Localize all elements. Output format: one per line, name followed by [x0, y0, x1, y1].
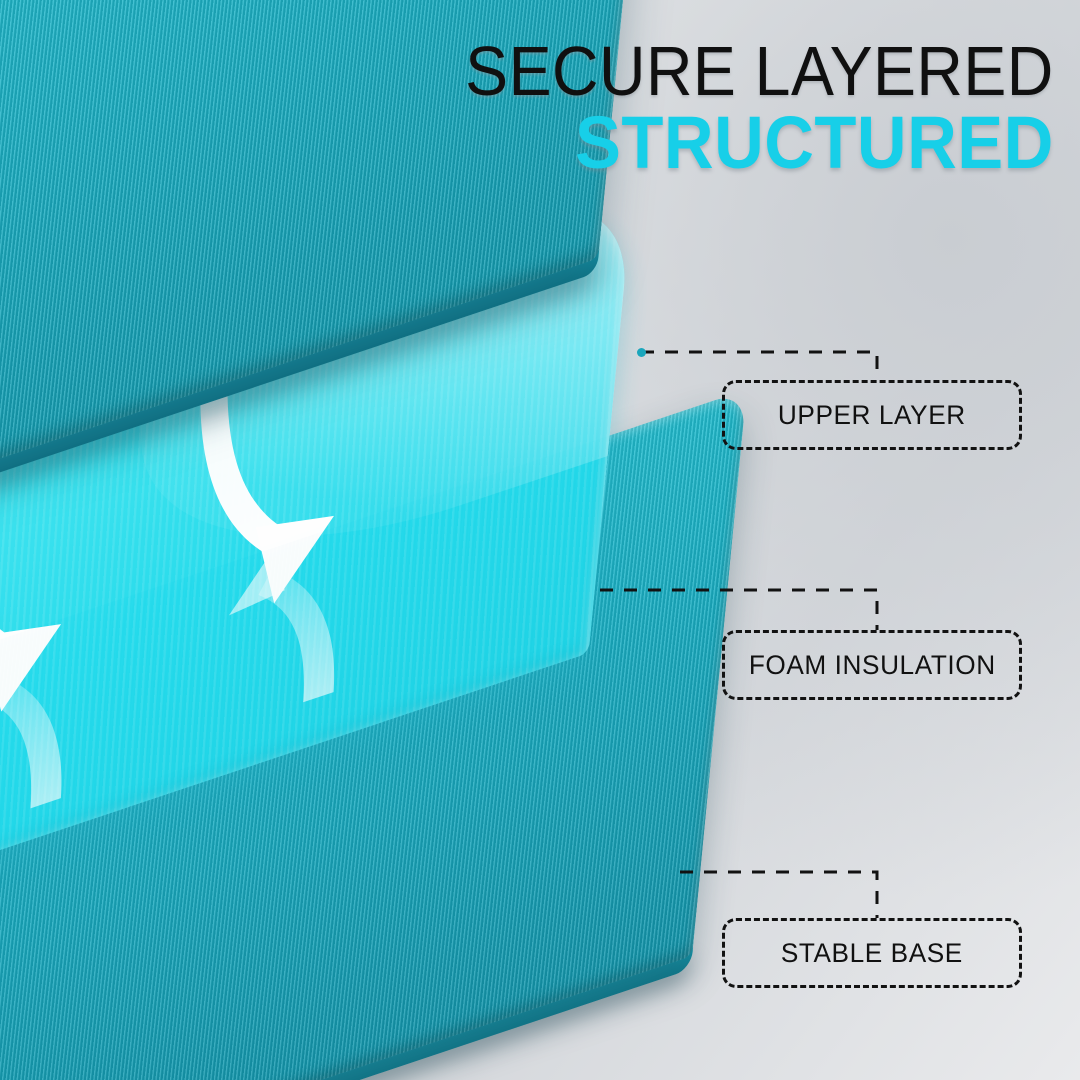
callout-upper-layer-label: UPPER LAYER	[778, 400, 966, 431]
leader-anchor-upper-layer	[637, 348, 646, 357]
callout-foam-insulation-label: FOAM INSULATION	[749, 650, 996, 681]
callout-foam-insulation[interactable]: FOAM INSULATION	[722, 630, 1022, 700]
leader-line-foam-insulation	[600, 590, 877, 630]
callout-stable-base-label: STABLE BASE	[781, 938, 963, 969]
callout-upper-layer[interactable]: UPPER LAYER	[722, 380, 1022, 450]
infographic-canvas: SECURE LAYERED STRUCTURED UPPER LAYER FO…	[0, 0, 1080, 1080]
callout-group: UPPER LAYER FOAM INSULATION STABLE BASE	[0, 0, 1080, 1080]
leader-line-upper-layer	[641, 352, 877, 380]
callout-stable-base[interactable]: STABLE BASE	[722, 918, 1022, 988]
leader-line-stable-base	[680, 872, 877, 918]
